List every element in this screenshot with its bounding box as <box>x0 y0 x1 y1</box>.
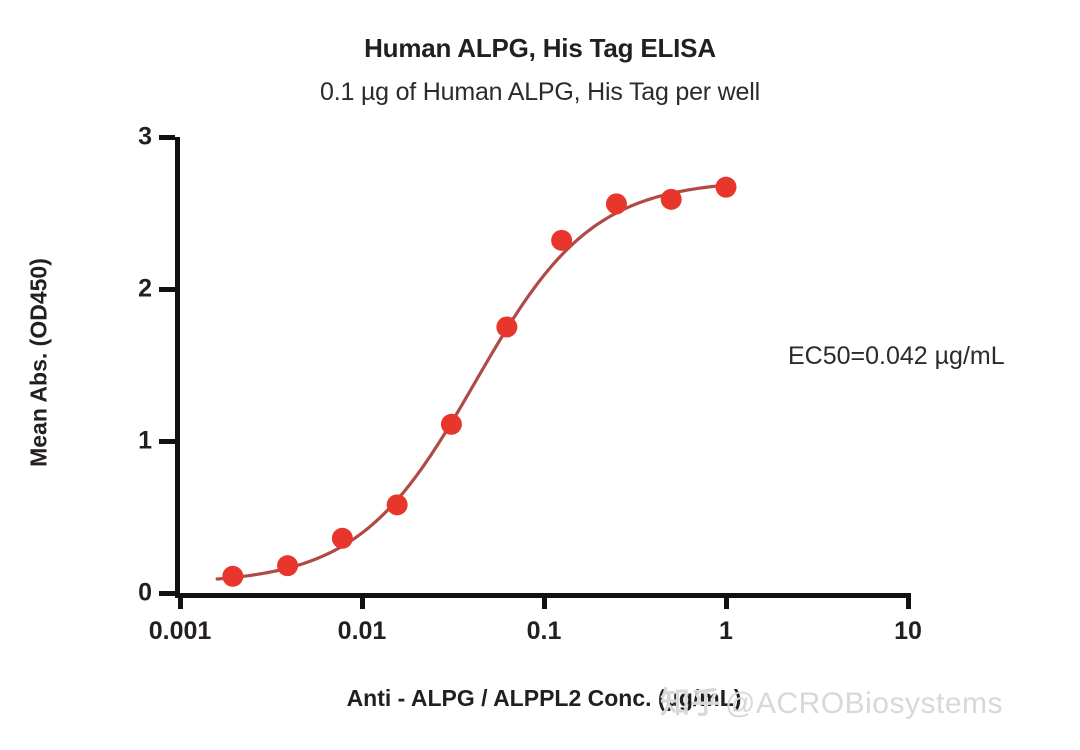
data-point <box>441 414 462 435</box>
x-axis-label: Anti - ALPG / ALPPL2 Conc. (µg/mL) <box>180 685 908 712</box>
y-tick-0 <box>159 591 175 596</box>
data-point <box>716 177 737 198</box>
y-tick-3 <box>159 135 175 140</box>
data-point <box>332 528 353 549</box>
data-point <box>551 230 572 251</box>
fit-curve <box>217 185 726 579</box>
plot-area: 0.0010.010.1110 0123 Mean Abs. (OD450) A… <box>180 137 908 593</box>
ec50-annotation: EC50=0.042 µg/mL <box>788 342 1005 371</box>
y-tick-label-2: 2 <box>126 275 152 304</box>
elisa-figure: Human ALPG, His Tag ELISA 0.1 µg of Huma… <box>0 0 1080 750</box>
x-tick-label-0: 0.001 <box>149 617 212 646</box>
x-tick-label-3: 1 <box>719 617 733 646</box>
x-tick-label-1: 0.01 <box>338 617 387 646</box>
data-point <box>661 189 682 210</box>
y-tick-label-0: 0 <box>126 579 152 608</box>
y-tick-1 <box>159 439 175 444</box>
x-tick-label-4: 10 <box>894 617 922 646</box>
chart-subtitle: 0.1 µg of Human ALPG, His Tag per well <box>0 78 1080 107</box>
y-axis-label: Mean Abs. (OD450) <box>26 153 53 573</box>
y-tick-2 <box>159 287 175 292</box>
chart-title: Human ALPG, His Tag ELISA <box>0 33 1080 64</box>
data-point <box>222 566 243 587</box>
data-point <box>606 193 627 214</box>
data-point <box>387 494 408 515</box>
data-point-markers <box>222 177 736 587</box>
x-tick-label-2: 0.1 <box>527 617 562 646</box>
y-tick-label-1: 1 <box>126 427 152 456</box>
y-tick-label-3: 3 <box>126 123 152 152</box>
data-point <box>496 317 517 338</box>
data-point <box>277 555 298 576</box>
